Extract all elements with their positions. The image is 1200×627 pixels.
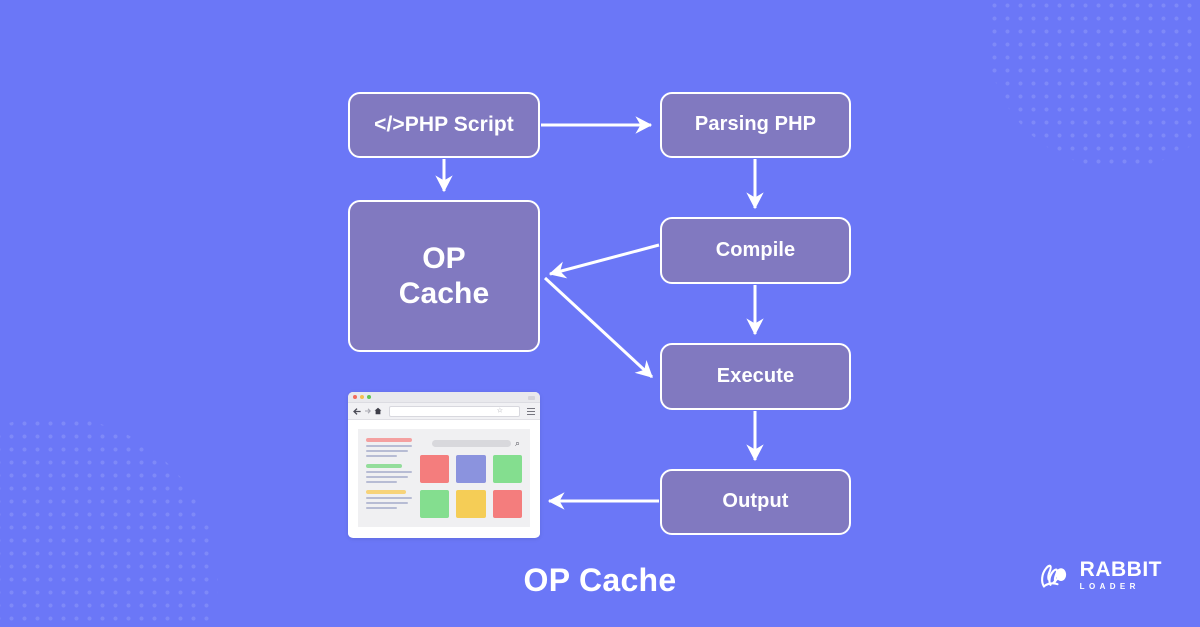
sidebar-text-line: [366, 507, 397, 510]
node-execute[interactable]: Execute: [660, 343, 851, 410]
edge-compile-to-opcache: [550, 245, 659, 274]
sidebar-text-line: [366, 455, 397, 458]
page-tile-grid: [420, 455, 522, 518]
browser-content: ⌕: [348, 420, 540, 537]
node-php-script[interactable]: </>PHP Script: [348, 92, 540, 158]
node-op-cache-label: OP Cache: [399, 241, 490, 312]
sidebar-text-line: [366, 445, 412, 448]
connector-arrows: [0, 0, 1200, 627]
node-op-cache-line-1: OP: [399, 241, 490, 276]
grid-tile[interactable]: [493, 490, 522, 518]
close-dot-red-icon[interactable]: [353, 395, 357, 399]
sidebar-group: [366, 490, 412, 509]
logo-text: RABBIT LOADER: [1080, 559, 1162, 591]
sidebar-text-line: [366, 481, 397, 484]
grid-tile[interactable]: [493, 455, 522, 483]
diagram-canvas: </>PHP Script Parsing PHP OP Cache Compi…: [0, 0, 1200, 627]
grid-tile[interactable]: [456, 455, 485, 483]
sidebar-group-heading: [366, 438, 412, 442]
sidebar-text-line: [366, 471, 412, 474]
node-op-cache[interactable]: OP Cache: [348, 200, 540, 352]
grid-tile[interactable]: [456, 490, 485, 518]
page-search-row: ⌕: [420, 438, 522, 448]
node-parsing-php[interactable]: Parsing PHP: [660, 92, 851, 158]
logo-subtitle: LOADER: [1080, 583, 1162, 591]
maximize-dot-green-icon[interactable]: [367, 395, 371, 399]
grid-tile[interactable]: [420, 490, 449, 518]
edge-opcache-to-execute: [545, 278, 652, 377]
back-arrow-icon[interactable]: [353, 408, 361, 415]
sidebar-text-line: [366, 476, 408, 479]
hamburger-menu-icon[interactable]: [527, 408, 535, 415]
home-icon[interactable]: [374, 407, 382, 415]
bookmark-star-icon[interactable]: ☆: [497, 408, 503, 415]
logo-name: RABBIT: [1080, 559, 1162, 580]
sidebar-group: [366, 464, 412, 483]
rabbit-icon: [1038, 560, 1072, 590]
sidebar-text-line: [366, 450, 408, 453]
sidebar-group-heading: [366, 490, 406, 494]
node-op-cache-line-2: Cache: [399, 276, 490, 311]
minimize-dot-yellow-icon[interactable]: [360, 395, 364, 399]
page-title: OP Cache: [0, 562, 1200, 599]
sidebar-group-heading: [366, 464, 402, 468]
node-parsing-php-label: Parsing PHP: [695, 113, 816, 137]
search-icon[interactable]: ⌕: [515, 439, 520, 448]
node-execute-label: Execute: [717, 365, 794, 389]
grid-tile[interactable]: [420, 455, 449, 483]
browser-titlebar: [348, 392, 540, 403]
forward-arrow-icon[interactable]: [364, 408, 371, 414]
page-main-area: ⌕: [420, 438, 522, 518]
node-output-label: Output: [722, 490, 788, 514]
browser-preview-window: ☆: [348, 392, 540, 538]
browser-toolbar: ☆: [348, 403, 540, 420]
decorative-dots-top-right: [988, 0, 1200, 168]
sidebar-group: [366, 438, 412, 457]
node-compile[interactable]: Compile: [660, 217, 851, 284]
browser-url-input[interactable]: ☆: [389, 406, 520, 417]
rabbit-loader-logo[interactable]: RABBIT LOADER: [1038, 559, 1162, 591]
node-php-script-label: </>PHP Script: [374, 113, 514, 138]
node-output[interactable]: Output: [660, 469, 851, 535]
sidebar-text-line: [366, 497, 412, 500]
page-sidebar: [366, 438, 412, 518]
browser-nav-icons: [353, 407, 382, 415]
page-search-input[interactable]: [432, 440, 511, 447]
tab-placeholder: [528, 396, 535, 400]
sidebar-text-line: [366, 502, 408, 505]
node-compile-label: Compile: [716, 239, 796, 263]
browser-page-body: ⌕: [358, 429, 530, 527]
